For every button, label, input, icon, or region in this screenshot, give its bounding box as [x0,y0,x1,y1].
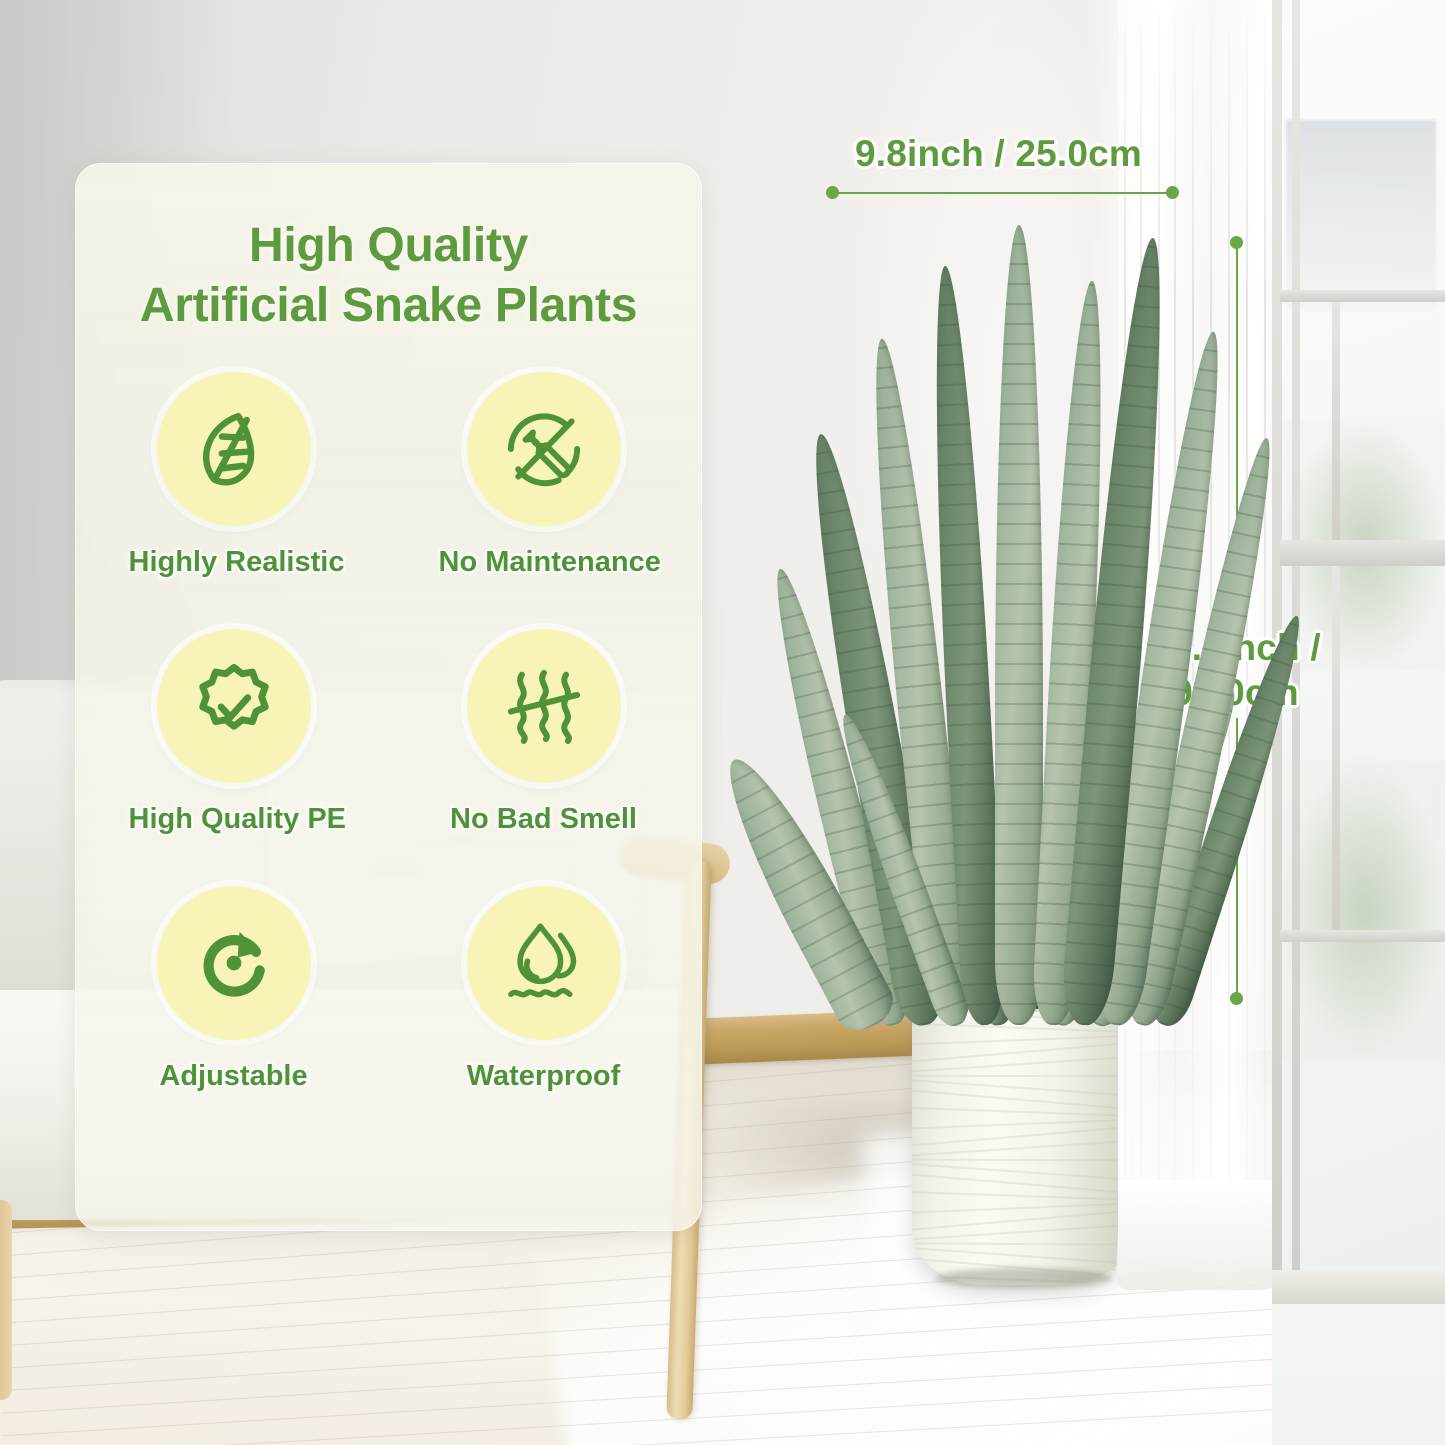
feature-label: Adjustable [129,1060,339,1093]
feature-row: High Quality PE No Bad Smell [76,629,701,836]
feature-icon-badge [467,629,621,783]
feature-grid: Highly Realistic No Maintenance High Qua… [76,372,701,1143]
card-title: High Quality Artificial Snake Plants [76,216,701,337]
pot-texture-line [912,1159,1134,1162]
pot-texture-line [912,1078,1134,1098]
pot-texture-line [912,1190,1134,1201]
feature-icon-badge [467,886,621,1040]
feature-item-waterproof: Waterproof [439,886,649,1093]
window-frame-horizontal-low [1280,930,1445,942]
window-mullion-lower [1332,566,1340,930]
feature-icon-badge [467,372,621,526]
plant-pot [912,985,1134,1285]
pot-base-shadow [936,1268,1112,1288]
feature-item-highly-realistic: Highly Realistic [129,372,339,579]
pot-texture-line [912,1162,1134,1183]
window-mullion-upper [1332,302,1340,540]
card-title-line2: Artificial Snake Plants [140,279,637,332]
feature-item-adjustable: Adjustable [129,886,339,1093]
no-smell-icon [498,660,590,752]
water-drop-icon [498,917,590,1009]
width-dimension-label: 9.8inch / 25.0cm [855,133,1142,175]
leaf-icon [188,403,280,495]
curtain-hem [1115,1180,1296,1290]
width-dim-dot-left [826,186,839,199]
window-view-buildings [1286,120,1436,310]
window-view-foliage [1282,760,1445,1060]
width-dim-dot-right [1166,186,1179,199]
feature-label: Waterproof [439,1060,649,1093]
feature-row: Adjustable Waterproof [76,886,701,1093]
pot-texture [912,985,1134,1285]
width-dimension-line [832,192,1172,194]
feature-item-no-bad-smell: No Bad Smell [439,629,649,836]
pot-texture-line [912,1246,1134,1267]
pot-texture-line [912,1106,1134,1118]
feature-item-high-quality-pe: High Quality PE [129,629,339,836]
height-dim-dot-top [1230,236,1243,249]
feature-icon-badge [157,372,311,526]
feature-row: Highly Realistic No Maintenance [76,372,701,579]
quality-badge-icon [188,660,280,752]
window-frame-horizontal-top [1280,290,1445,302]
feature-label: No Maintenance [439,546,649,579]
sofa-wooden-leg-left [0,1200,12,1400]
rotate-arrow-icon [188,917,280,1009]
feature-label: Highly Realistic [129,546,339,579]
window-frame-horizontal-mid [1280,540,1445,566]
card-title-line1: High Quality [249,219,528,272]
plant-leaf [995,225,1043,1025]
height-dim-dot-bottom [1230,992,1243,1005]
feature-item-no-maintenance: No Maintenance [439,372,649,579]
feature-label: High Quality PE [129,803,339,836]
no-tools-icon [498,403,590,495]
feature-label: No Bad Smell [439,803,649,836]
window-sill [1272,1270,1445,1304]
feature-icon-badge [157,886,311,1040]
feature-icon-badge [157,629,311,783]
pot-texture-line [912,1075,1134,1077]
window [1272,0,1445,1445]
feature-info-card: High Quality Artificial Snake Plants Hig… [75,163,702,1231]
pot-texture-line [912,1242,1134,1245]
